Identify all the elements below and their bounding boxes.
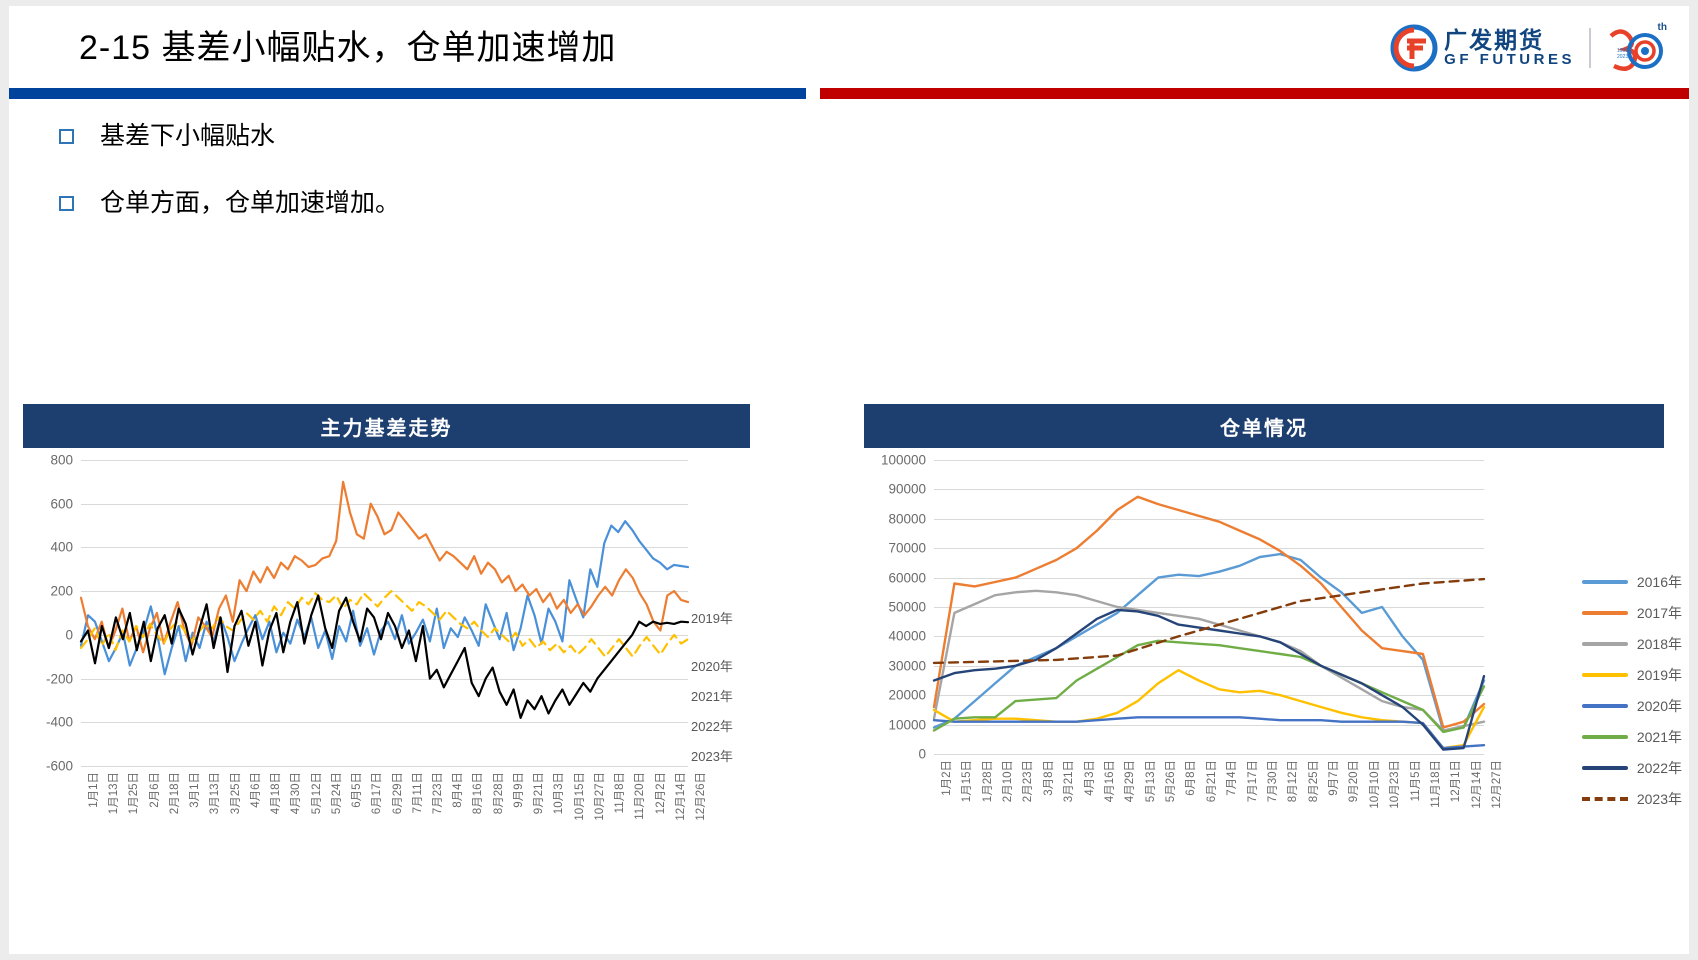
brand-name-cn: 广发期货 (1444, 28, 1575, 52)
legend-item[interactable]: 2022年 (691, 716, 733, 736)
gf-logo-icon (1390, 24, 1438, 72)
legend-swatch-icon (1582, 611, 1628, 615)
legend-swatch-icon (1582, 735, 1628, 739)
bullet-item: 基差下小幅贴水 (59, 121, 959, 151)
legend-label: 2019年 (1637, 665, 1682, 685)
chart-series-layer (23, 448, 750, 844)
legend-swatch-icon (1582, 580, 1628, 584)
chart-legend-warrants: 2016年2017年2018年2019年2020年2021年2022年2023年 (1582, 566, 1682, 814)
chart-plot-warrants: 1000009000080000700006000050000400003000… (864, 448, 1684, 844)
legend-item[interactable]: 2018年 (1582, 628, 1682, 659)
legend-label: 2022年 (1637, 758, 1682, 778)
legend-item[interactable]: 2019年 (691, 608, 733, 628)
svg-text:2023: 2023 (1617, 54, 1628, 60)
legend-swatch-icon (1582, 766, 1628, 770)
chart-title-basis: 主力基差走势 (23, 404, 750, 448)
chart-series-layer (864, 448, 1684, 844)
legend-label: 2023年 (1637, 789, 1682, 809)
legend-label: 2020年 (1637, 696, 1682, 716)
legend-item[interactable]: 2020年 (1582, 690, 1682, 721)
legend-swatch-icon (1582, 673, 1628, 677)
chart-panel-basis: 主力基差走势 8006004002000-200-400-6001月1日1月13… (23, 404, 750, 844)
legend-item[interactable]: 2021年 (1582, 721, 1682, 752)
legend-label: 2019年 (691, 611, 733, 626)
legend-item[interactable]: 2023年 (691, 746, 733, 766)
series-line (934, 717, 1484, 748)
legend-label: 2021年 (1637, 727, 1682, 747)
accent-bar-gap (806, 88, 820, 99)
bullet-text: 基差下小幅贴水 (100, 121, 275, 151)
legend-swatch-icon (1582, 704, 1628, 708)
logo-divider (1589, 28, 1591, 68)
legend-item[interactable]: 2019年 (1582, 659, 1682, 690)
legend-label: 2016年 (1637, 572, 1682, 592)
legend-swatch-icon (1582, 797, 1628, 801)
series-line (934, 610, 1484, 750)
legend-label: 2020年 (691, 659, 733, 674)
bullet-item: 仓单方面，仓单加速增加。 (59, 188, 959, 218)
series-line (934, 497, 1484, 728)
legend-item[interactable]: 2017年 (1582, 597, 1682, 628)
bullet-square-icon (59, 196, 74, 211)
series-line (934, 670, 1484, 748)
legend-item[interactable]: 2016年 (1582, 566, 1682, 597)
legend-item[interactable]: 2023年 (1582, 783, 1682, 814)
bullet-list: 基差下小幅贴水 仓单方面，仓单加速增加。 (59, 121, 959, 255)
page-title: 2-15 基差小幅贴水，仓单加速增加 (79, 20, 617, 69)
bullet-square-icon (59, 129, 74, 144)
legend-item[interactable]: 2022年 (1582, 752, 1682, 783)
chart-panel-warrants: 仓单情况 10000090000800007000060000500004000… (864, 404, 1684, 844)
accent-bar-blue (9, 88, 806, 99)
accent-bar-red (820, 88, 1689, 99)
legend-label: 2018年 (1637, 634, 1682, 654)
legend-item[interactable]: 2020年 (691, 656, 733, 676)
brand-logo: 广发期货 GF FUTURES 1993 2023 th (1390, 22, 1665, 74)
chart-title-warrants: 仓单情况 (864, 404, 1664, 448)
legend-label: 2023年 (691, 749, 733, 764)
bullet-text: 仓单方面，仓单加速增加。 (100, 188, 400, 218)
chart-plot-basis: 8006004002000-200-400-6001月1日1月13日1月25日2… (23, 448, 750, 844)
brand-name-en: GF FUTURES (1444, 52, 1575, 69)
slide-header: 2-15 基差小幅贴水，仓单加速增加 广发期货 GF FUTURES (9, 6, 1689, 88)
slide: 2-15 基差小幅贴水，仓单加速增加 广发期货 GF FUTURES (9, 6, 1689, 954)
series-line (81, 596, 688, 718)
legend-label: 2022年 (691, 719, 733, 734)
anniversary-badge-icon: 1993 2023 th (1605, 24, 1665, 72)
legend-label: 2021年 (691, 689, 733, 704)
legend-label: 2017年 (1637, 603, 1682, 623)
anniversary-superscript: th (1658, 22, 1667, 33)
header-accent-bars (9, 88, 1689, 99)
series-line (934, 554, 1484, 730)
legend-swatch-icon (1582, 642, 1628, 646)
legend-item[interactable]: 2021年 (691, 686, 733, 706)
